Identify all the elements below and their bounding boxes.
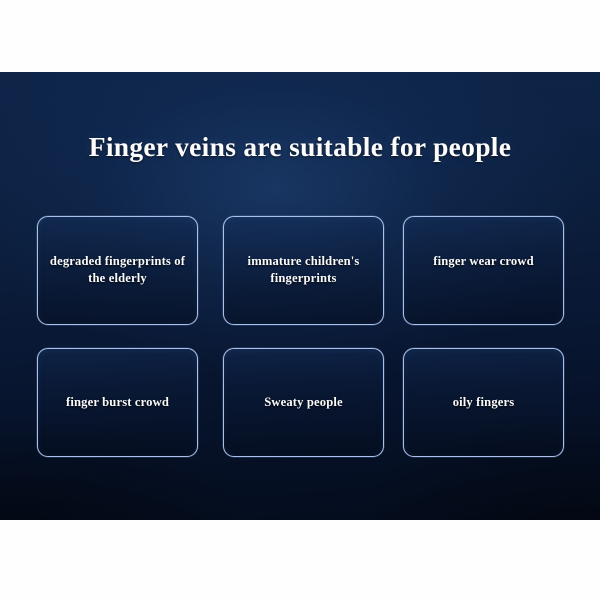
card-finger-wear-crowd[interactable]: finger wear crowd [403,216,564,325]
card-sweaty-people[interactable]: Sweaty people [223,348,384,457]
card-label: finger burst crowd [43,394,193,411]
card-oily-fingers[interactable]: oily fingers [403,348,564,457]
card-label: finger wear crowd [409,253,559,270]
card-finger-burst-crowd[interactable]: finger burst crowd [37,348,198,457]
card-label: oily fingers [409,394,559,411]
card-label: degraded fingerprints of the elderly [43,253,193,287]
card-grid: degraded fingerprints of the elderly imm… [37,216,564,455]
card-label: Sweaty people [229,394,379,411]
card-immature-childrens-fingerprints[interactable]: immature children's fingerprints [223,216,384,325]
presentation-slide: Finger veins are suitable for people deg… [0,72,600,520]
slide-title: Finger veins are suitable for people [0,132,600,162]
card-degraded-fingerprints-of-the-elderly[interactable]: degraded fingerprints of the elderly [37,216,198,325]
card-label: immature children's fingerprints [229,253,379,287]
screenshot-canvas: Finger veins are suitable for people deg… [0,0,600,600]
